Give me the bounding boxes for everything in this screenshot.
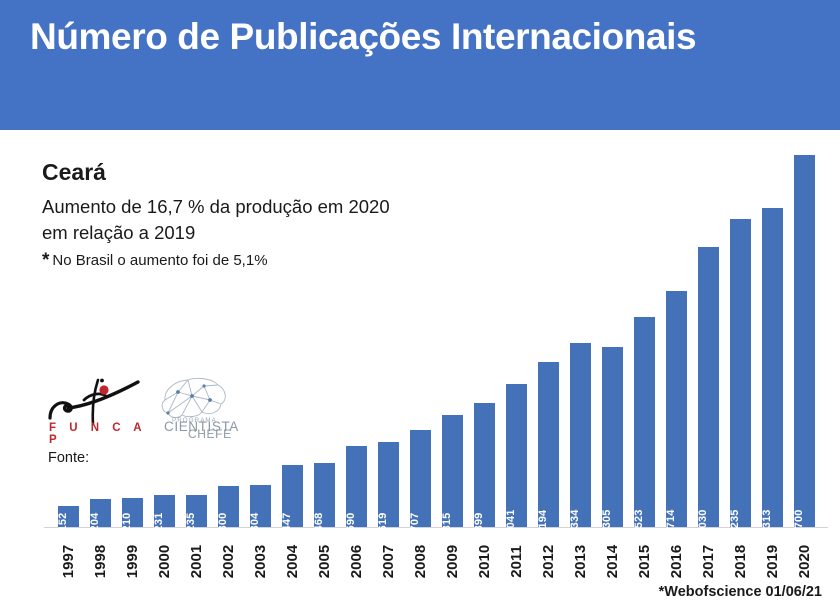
bar-rect: 590 — [346, 446, 367, 527]
x-axis-label-2015: 2015 — [628, 533, 660, 570]
bar-value-label: 447 — [281, 513, 293, 532]
bar-2006[interactable]: 590 — [340, 81, 372, 527]
bar-value-label: 1334 — [569, 509, 581, 534]
bar-rect: 152 — [58, 506, 79, 527]
x-axis-label-2000: 2000 — [148, 533, 180, 570]
x-axis-label-2016: 2016 — [660, 533, 692, 570]
bar-value-label: 1714 — [665, 509, 677, 534]
bar-2001[interactable]: 235 — [180, 81, 212, 527]
bar-value-label: 899 — [473, 513, 485, 532]
bar-2018[interactable]: 2235 — [724, 81, 756, 527]
bar-rect: 304 — [250, 485, 271, 527]
footer-source: *Webofscience 01/06/21 — [659, 584, 822, 600]
bar-rect: 2313 — [762, 208, 783, 527]
bar-value-label: 1523 — [633, 509, 645, 534]
bar-2014[interactable]: 1305 — [596, 81, 628, 527]
bar-value-label: 204 — [89, 513, 101, 532]
slide-canvas: Número de Publicações Internacionais Cea… — [0, 0, 840, 608]
x-axis-label-2012: 2012 — [532, 533, 564, 570]
bar-rect: 2235 — [730, 219, 751, 527]
bar-2019[interactable]: 2313 — [756, 81, 788, 527]
bar-rect: 1041 — [506, 384, 527, 527]
bar-2020[interactable]: 2700 — [788, 81, 820, 527]
bar-rect: 231 — [154, 495, 175, 527]
x-axis-label-1997: 1997 — [52, 533, 84, 570]
bar-rect: 235 — [186, 495, 207, 527]
x-axis-label-2008: 2008 — [404, 533, 436, 570]
bar-rect: 447 — [282, 465, 303, 527]
bar-rect: 1305 — [602, 347, 623, 527]
x-axis-label-2018: 2018 — [724, 533, 756, 570]
bar-2003[interactable]: 304 — [244, 81, 276, 527]
bar-value-label: 1305 — [601, 509, 613, 534]
bar-value-label: 1194 — [537, 510, 549, 535]
bar-2004[interactable]: 447 — [276, 81, 308, 527]
bar-rect: 619 — [378, 442, 399, 527]
bar-value-label: 231 — [153, 513, 165, 532]
bar-value-label: 1041 — [505, 509, 517, 534]
bar-rect: 468 — [314, 463, 335, 527]
x-axis-label-2001: 2001 — [180, 533, 212, 570]
x-axis-label-2011: 2011 — [500, 533, 532, 570]
bar-2005[interactable]: 468 — [308, 81, 340, 527]
bar-rect: 2030 — [698, 247, 719, 527]
publications-bar-chart: 1522042102312353003044474685906197078158… — [0, 0, 840, 608]
bar-value-label: 707 — [409, 513, 421, 532]
x-axis-label-2014: 2014 — [596, 533, 628, 570]
x-axis-label-2010: 2010 — [468, 533, 500, 570]
bar-rect: 1714 — [666, 291, 687, 527]
bar-1997[interactable]: 152 — [52, 81, 84, 527]
x-axis-label-2020: 2020 — [788, 533, 820, 570]
bar-rect: 815 — [442, 415, 463, 527]
x-axis-label-2006: 2006 — [340, 533, 372, 570]
bar-value-label: 2235 — [729, 509, 741, 534]
bar-value-label: 2313 — [761, 509, 773, 534]
bar-value-label: 210 — [121, 513, 133, 532]
bar-rect: 210 — [122, 498, 143, 527]
bar-rect: 1194 — [538, 362, 559, 527]
bar-rect: 2700 — [794, 155, 815, 527]
bar-value-label: 235 — [185, 513, 197, 532]
bar-rect: 1523 — [634, 317, 655, 527]
bar-2015[interactable]: 1523 — [628, 81, 660, 527]
bar-2010[interactable]: 899 — [468, 81, 500, 527]
bar-2007[interactable]: 619 — [372, 81, 404, 527]
bar-value-label: 300 — [217, 513, 229, 532]
bar-2009[interactable]: 815 — [436, 81, 468, 527]
bar-value-label: 468 — [313, 513, 325, 532]
bar-value-label: 152 — [57, 513, 69, 532]
x-axis-label-2004: 2004 — [276, 533, 308, 570]
x-axis-label-2009: 2009 — [436, 533, 468, 570]
bar-rect: 300 — [218, 486, 239, 527]
x-axis-label-1999: 1999 — [116, 533, 148, 570]
x-axis-label-2003: 2003 — [244, 533, 276, 570]
bar-2013[interactable]: 1334 — [564, 81, 596, 527]
bar-2012[interactable]: 1194 — [532, 81, 564, 527]
bar-value-label: 304 — [249, 513, 261, 532]
bar-2000[interactable]: 231 — [148, 81, 180, 527]
bar-2011[interactable]: 1041 — [500, 81, 532, 527]
bar-value-label: 815 — [441, 513, 453, 532]
x-axis-label-2013: 2013 — [564, 533, 596, 570]
bar-2016[interactable]: 1714 — [660, 81, 692, 527]
x-axis-label-2007: 2007 — [372, 533, 404, 570]
bar-2017[interactable]: 2030 — [692, 81, 724, 527]
x-axis-label-2005: 2005 — [308, 533, 340, 570]
bar-2008[interactable]: 707 — [404, 81, 436, 527]
x-axis-label-2017: 2017 — [692, 533, 724, 570]
x-axis-label-2002: 2002 — [212, 533, 244, 570]
x-axis-label-1998: 1998 — [84, 533, 116, 570]
bar-value-label: 2700 — [793, 509, 805, 534]
bar-value-label: 2030 — [697, 509, 709, 534]
bar-value-label: 619 — [377, 513, 389, 532]
bar-1998[interactable]: 204 — [84, 81, 116, 527]
bar-1999[interactable]: 210 — [116, 81, 148, 527]
bar-value-label: 590 — [345, 513, 357, 532]
x-axis-label-2019: 2019 — [756, 533, 788, 570]
bar-rect: 707 — [410, 430, 431, 527]
bar-rect: 204 — [90, 499, 111, 527]
bar-2002[interactable]: 300 — [212, 81, 244, 527]
bar-rect: 899 — [474, 403, 495, 527]
bar-rect: 1334 — [570, 343, 591, 527]
